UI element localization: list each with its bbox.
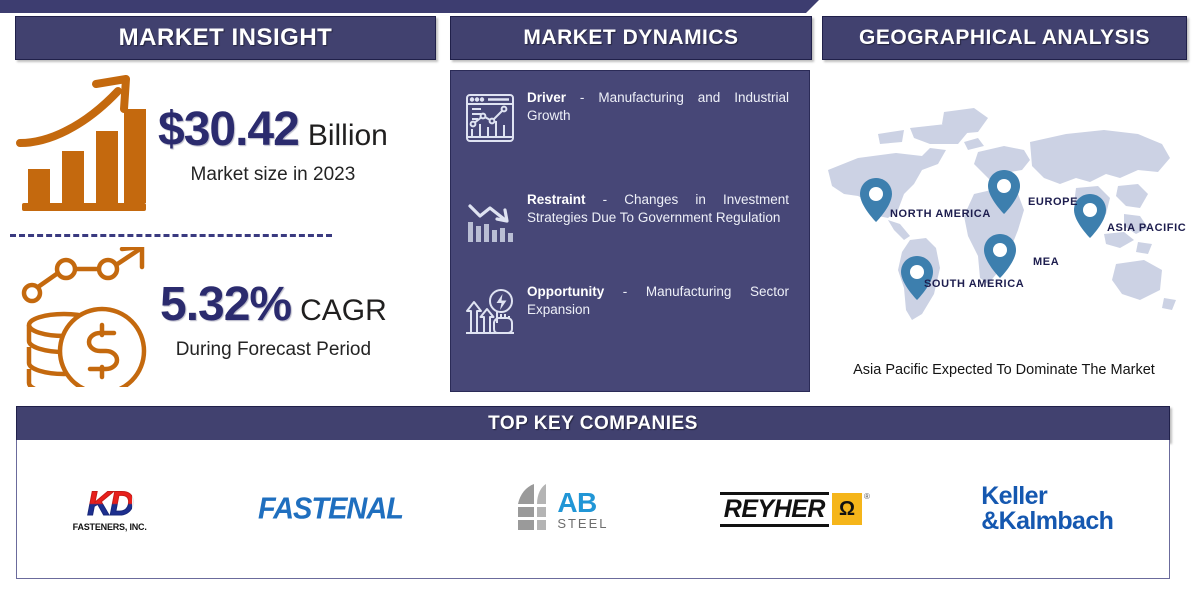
reyher-registered-icon: ®: [864, 492, 870, 501]
market-dynamics-header: MARKET DYNAMICS: [450, 16, 812, 60]
top-ribbon: [0, 0, 806, 13]
infographic-root: MARKET INSIGHT $30.4: [0, 0, 1200, 600]
company-logo-row: KD FASTENERS, INC. FASTENAL: [17, 440, 1169, 578]
cagr-text: 5.32% CAGR During Forecast Period: [160, 277, 387, 361]
geo-label-south-america: SOUTH AMERICA: [924, 278, 1024, 290]
top-key-companies-header: TOP KEY COMPANIES: [16, 406, 1170, 442]
market-size-caption: Market size in 2023: [191, 164, 356, 186]
bar-chart-growth-icon: [14, 71, 152, 216]
coins-growth-icon: [14, 247, 154, 392]
geo-label-europe: EUROPE: [1028, 196, 1078, 208]
kd-subtext: FASTENERS, INC.: [73, 522, 147, 532]
reyher-mark-icon: Ω: [832, 493, 862, 525]
dynamics-item-opportunity: Opportunity - Manufacturing Sector Expan…: [461, 283, 801, 341]
reyher-wordmark: REYHER: [720, 492, 829, 527]
company-logo-ab-steel: AB STEEL: [514, 474, 608, 544]
geo-caption: Asia Pacific Expected To Dominate The Ma…: [818, 362, 1190, 378]
cagr-value: 5.32%: [160, 277, 291, 332]
market-size-text: $30.42 Billion Market size in 2023: [158, 102, 388, 186]
dynamics-item-driver: Driver - Manufacturing and Industrial Gr…: [461, 89, 801, 147]
ab-steel-mark-icon: [514, 484, 554, 535]
geographical-analysis-header: GEOGRAPHICAL ANALYSIS: [822, 16, 1187, 60]
cagr-stat: 5.32% CAGR During Forecast Period: [14, 244, 434, 394]
cagr-unit: CAGR: [300, 294, 387, 328]
kd-wordmark: KD: [87, 487, 132, 521]
market-dynamics-title: MARKET DYNAMICS: [523, 26, 738, 50]
geo-label-asia-pacific: ASIA PACIFIC: [1107, 222, 1186, 234]
company-logo-kd: KD FASTENERS, INC.: [73, 474, 147, 544]
market-insight-header: MARKET INSIGHT: [15, 16, 436, 60]
top-key-companies-panel: KD FASTENERS, INC. FASTENAL: [16, 440, 1170, 579]
insight-divider: [10, 234, 332, 237]
dynamics-opportunity-text: Opportunity - Manufacturing Sector Expan…: [527, 283, 789, 319]
dynamics-opportunity-label: Opportunity: [527, 284, 604, 299]
market-size-stat: $30.42 Billion Market size in 2023: [14, 66, 434, 221]
market-dynamics-panel: Driver - Manufacturing and Industrial Gr…: [450, 70, 810, 392]
dynamics-restraint-separator: -: [586, 192, 625, 207]
dynamics-opportunity-separator: -: [604, 284, 646, 299]
company-logo-reyher: REYHER Ω ®: [720, 474, 870, 544]
geo-label-north-america: NORTH AMERICA: [890, 208, 991, 220]
ab-steel-subtext: STEEL: [557, 517, 608, 530]
geographical-analysis-title: GEOGRAPHICAL ANALYSIS: [859, 26, 1150, 50]
geographical-analysis-panel: NORTH AMERICA EUROPE ASIA PACIFIC MEA SO…: [818, 64, 1190, 394]
fastenal-wordmark: FASTENAL: [258, 492, 403, 527]
dynamics-driver-label: Driver: [527, 90, 566, 105]
cagr-caption: During Forecast Period: [176, 339, 371, 361]
company-logo-fastenal: FASTENAL: [258, 474, 403, 544]
declining-bar-chart-icon: [461, 191, 519, 249]
geo-label-mea: MEA: [1033, 256, 1059, 268]
market-insight-title: MARKET INSIGHT: [119, 24, 333, 52]
dynamics-driver-text: Driver - Manufacturing and Industrial Gr…: [527, 89, 789, 125]
market-insight-panel: $30.42 Billion Market size in 2023: [10, 62, 435, 392]
market-size-value: $30.42: [158, 102, 299, 157]
dynamics-restraint-text: Restraint - Changes in Investment Strate…: [527, 191, 789, 227]
hand-lightning-growth-icon: [461, 283, 519, 341]
ab-steel-wordmark: AB: [557, 489, 608, 517]
keller-wordmark-line2: &Kalmbach: [981, 509, 1113, 535]
dynamics-driver-separator: -: [566, 90, 598, 105]
dynamics-restraint-label: Restraint: [527, 192, 586, 207]
company-logo-keller-kalmbach: Keller &Kalmbach: [981, 474, 1113, 544]
keller-wordmark-line1: Keller: [981, 484, 1113, 510]
world-map: NORTH AMERICA EUROPE ASIA PACIFIC MEA SO…: [818, 98, 1190, 348]
analytics-dashboard-icon: [461, 89, 519, 147]
top-key-companies-title: TOP KEY COMPANIES: [488, 413, 698, 435]
market-size-unit: Billion: [308, 119, 388, 153]
dynamics-item-restraint: Restraint - Changes in Investment Strate…: [461, 191, 801, 249]
